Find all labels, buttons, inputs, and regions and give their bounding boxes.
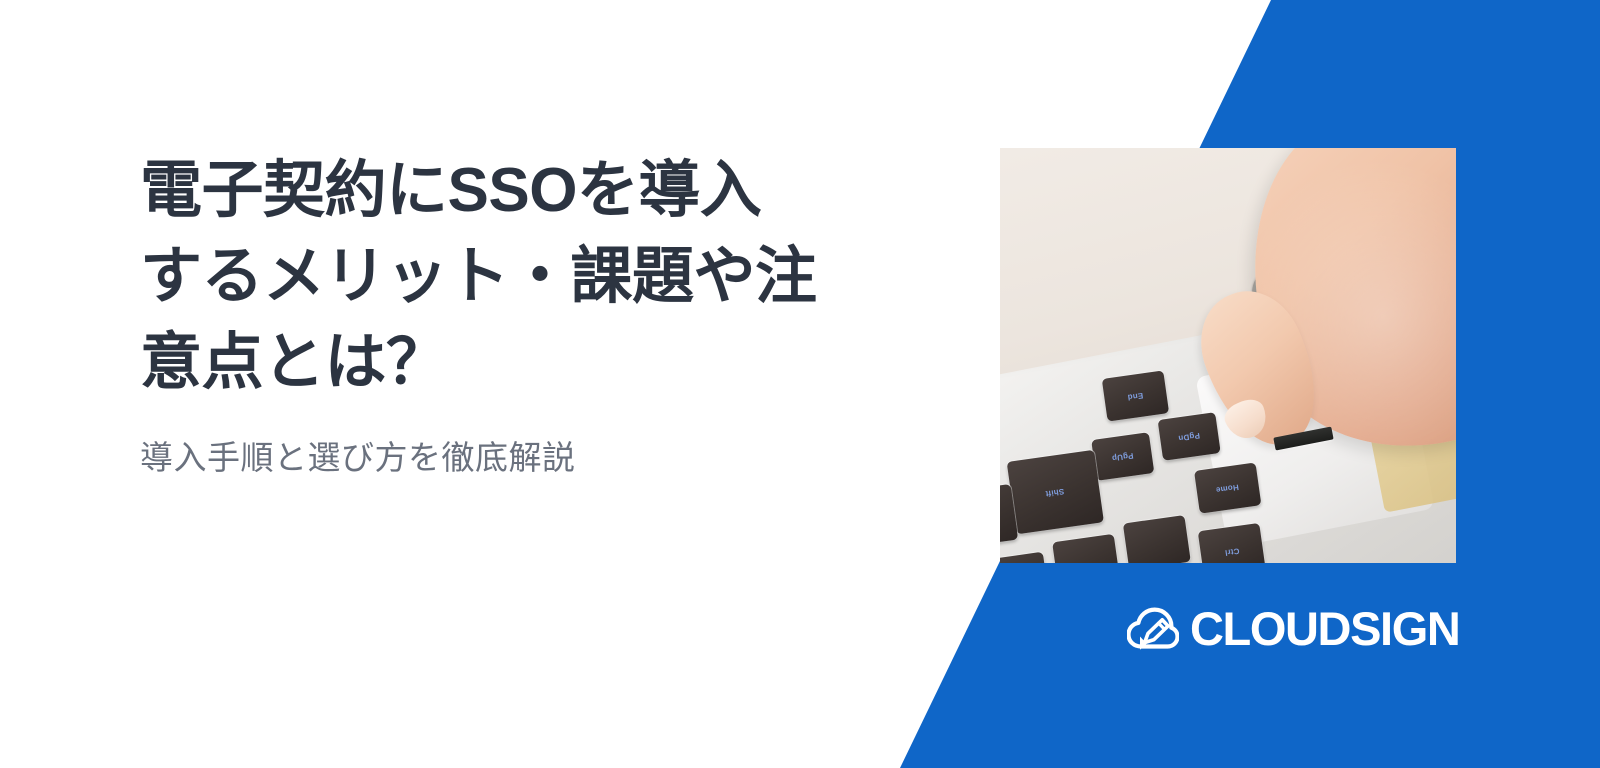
headline-block: 電子契約にSSOを導入 するメリット・課題や注 意点とは？ 導入手順と選び方を徹…: [140, 148, 930, 479]
cloud-pen-icon: [1127, 606, 1179, 652]
photo-canvas: End PgUp PgDn Home Shift Enter Ctrl: [1000, 148, 1456, 563]
keyboard-key: PgDn: [1158, 413, 1221, 462]
cloudsign-wordmark: CLOUDSIGN: [1190, 605, 1459, 652]
banner-canvas: 電子契約にSSOを導入 するメリット・課題や注 意点とは？ 導入手順と選び方を徹…: [0, 0, 1600, 768]
keyboard-key: End: [1102, 371, 1169, 422]
headline-line-1: 電子契約にSSOを導入: [140, 148, 930, 234]
cloudsign-logo[interactable]: CLOUDSIGN: [1127, 605, 1459, 652]
keyboard-key: PgUp: [1091, 432, 1154, 481]
page-subtitle: 導入手順と選び方を徹底解説: [140, 407, 930, 480]
keyboard-key: Ctrl: [1199, 523, 1267, 563]
headline-line-2: するメリット・課題や注: [140, 234, 930, 320]
keyboard-key: [1123, 516, 1191, 563]
headline-line-3: 意点とは？: [140, 320, 930, 406]
keyboard-key: [1000, 552, 1049, 563]
hero-photo: End PgUp PgDn Home Shift Enter Ctrl: [1000, 148, 1456, 563]
keyboard-key: Shift: [1008, 451, 1105, 536]
keyboard-key: [1052, 534, 1120, 563]
keyboard-key: Home: [1194, 462, 1261, 513]
page-title: 電子契約にSSOを導入 するメリット・課題や注 意点とは？: [140, 148, 930, 407]
